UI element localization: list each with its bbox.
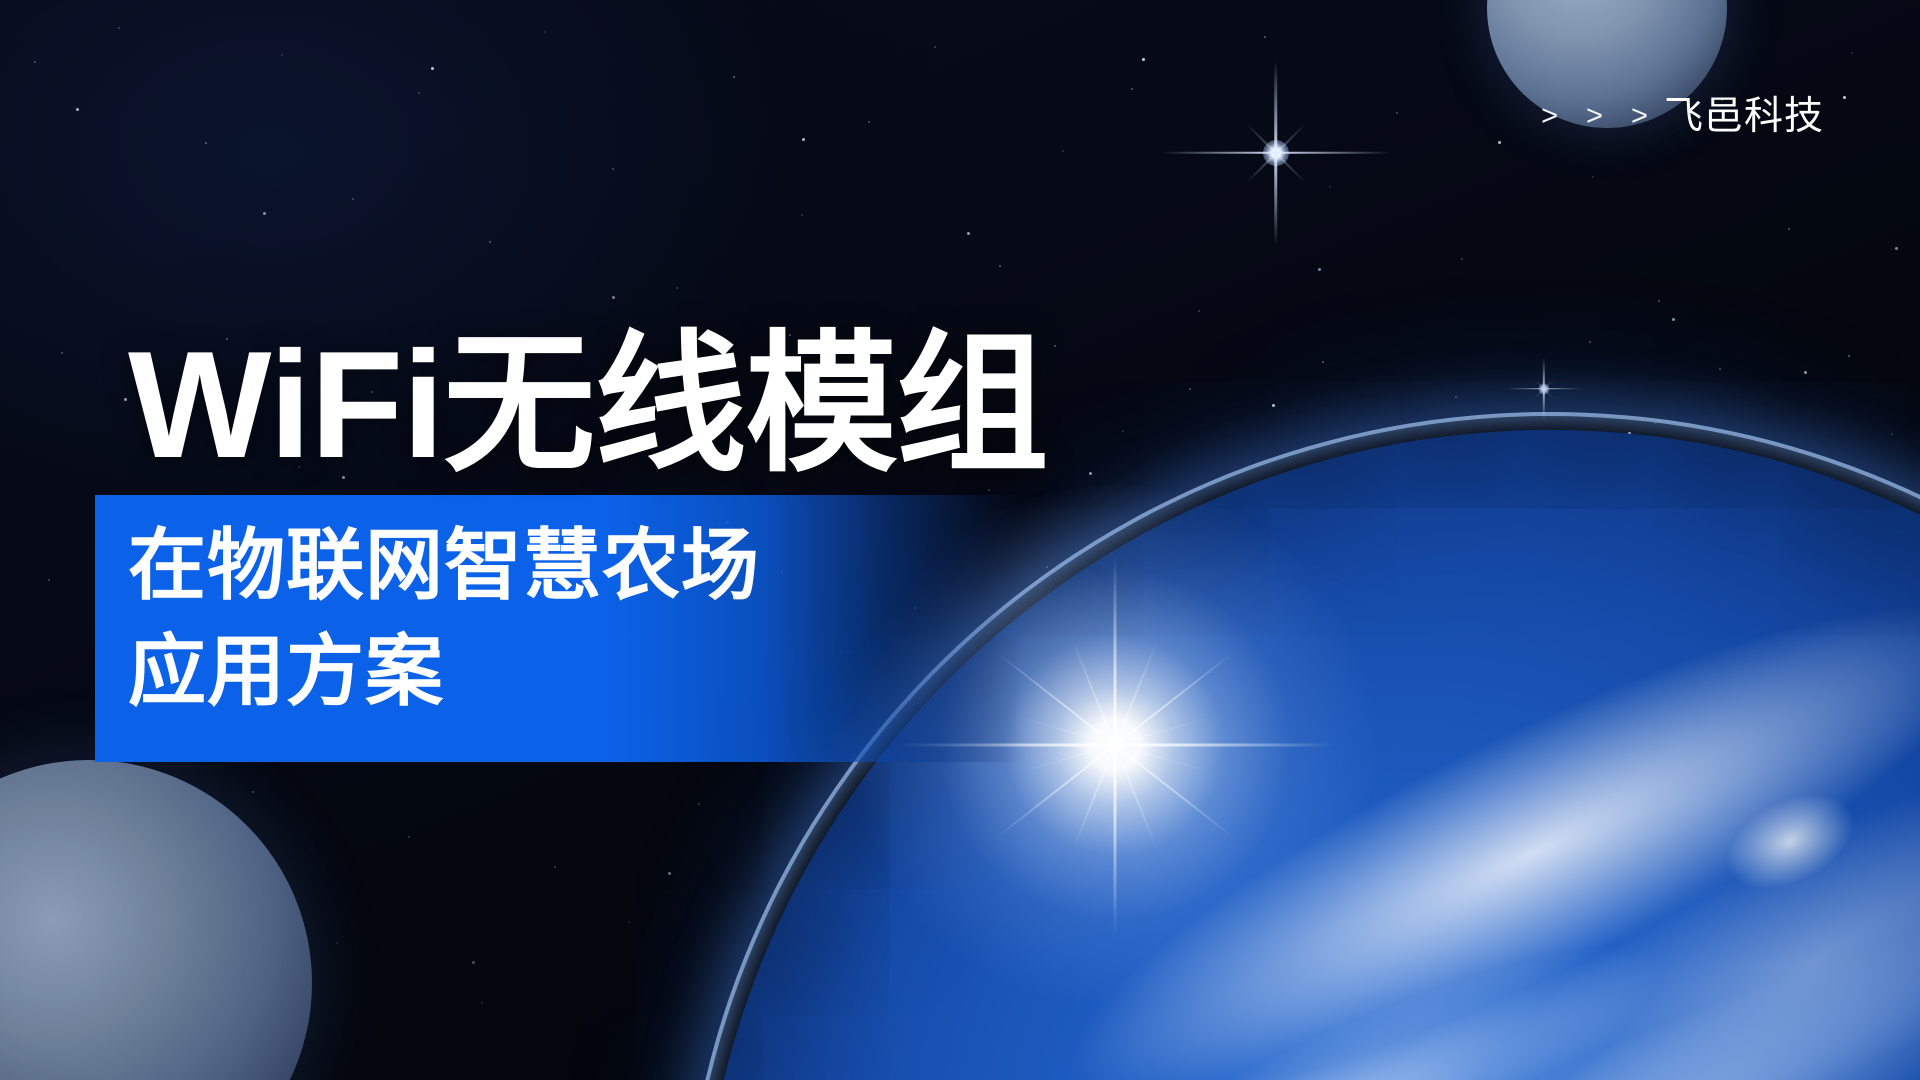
poster-canvas: > > > 飞邑科技 WiFi无线模组 在物联网智慧农场 应用方案 [0, 0, 1920, 1080]
brand-name: 飞邑科技 [1664, 97, 1824, 136]
subtitle-block: 在物联网智慧农场 应用方案 [128, 512, 760, 724]
subtitle-line-1: 在物联网智慧农场 [128, 512, 760, 618]
star-dots-bright [0, 0, 3, 3]
page-title: WiFi无线模组 [128, 326, 1047, 486]
brand-logo: > > > 飞邑科技 [1541, 97, 1824, 136]
subtitle-line-2: 应用方案 [128, 618, 760, 724]
chevron-right-icon: > > > [1541, 102, 1658, 131]
headline-block: WiFi无线模组 [128, 326, 1047, 486]
